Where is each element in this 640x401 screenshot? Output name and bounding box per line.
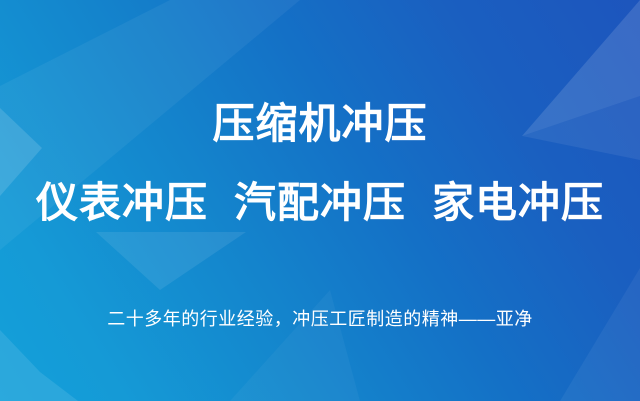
promo-banner: 压缩机冲压 仪表冲压汽配冲压家电冲压 二十多年的行业经验，冲压工匠制造的精神——… <box>0 0 640 401</box>
headline-primary: 压缩机冲压 <box>0 99 640 149</box>
headline-segment-instrument: 仪表冲压 <box>36 178 208 228</box>
headline-segment-auto-parts: 汽配冲压 <box>234 178 406 228</box>
headline-secondary: 仪表冲压汽配冲压家电冲压 <box>0 178 640 228</box>
tagline: 二十多年的行业经验，冲压工匠制造的精神——亚净 <box>0 306 640 332</box>
headline-segment-appliance: 家电冲压 <box>432 178 604 228</box>
banner-text-layer: 压缩机冲压 仪表冲压汽配冲压家电冲压 二十多年的行业经验，冲压工匠制造的精神——… <box>0 0 640 401</box>
